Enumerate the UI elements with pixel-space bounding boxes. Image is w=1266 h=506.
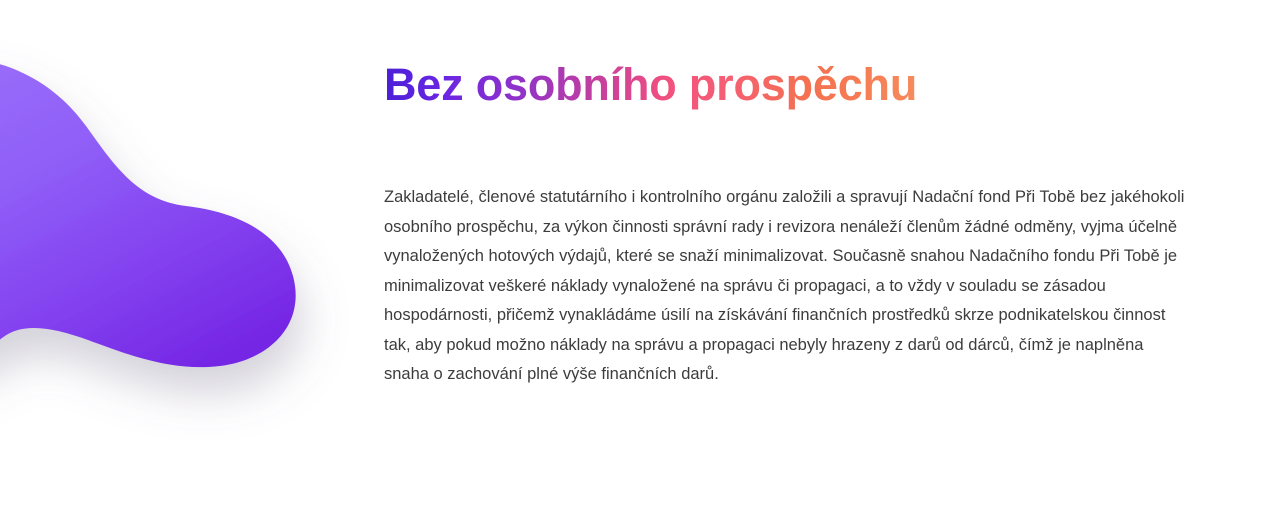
body-paragraph: Zakladatelé, členové statutárního i kont… [384,183,1190,390]
blob-decoration [0,14,360,414]
content-column: Bez osobního prospěchu Zakladatelé, člen… [384,0,1194,506]
page-root: Bez osobního prospěchu Zakladatelé, člen… [0,0,1266,506]
page-title: Bez osobního prospěchu [384,56,917,114]
purple-blob-icon [0,14,360,414]
